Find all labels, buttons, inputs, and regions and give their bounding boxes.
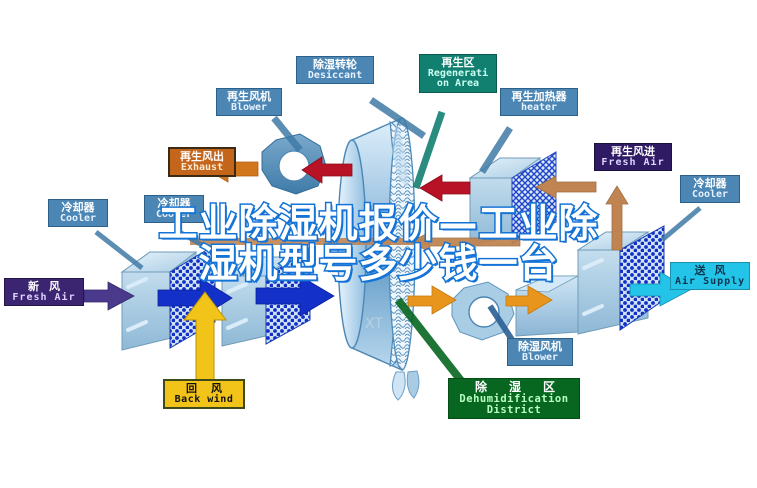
callout-regeneration-heater-en: heater <box>505 103 573 114</box>
callout-regeneration-fresh-air-cn: 再生风进 <box>599 146 667 158</box>
callout-regeneration-heater[interactable]: 再生加热器 heater <box>500 88 578 116</box>
callout-fresh-air-en: Fresh Air <box>9 293 79 304</box>
callout-regeneration-blower[interactable]: 再生风机 Blower <box>216 88 282 116</box>
callout-dehumidification-en2: District <box>453 405 575 416</box>
callout-dehumidification-cn: 除湿区 <box>453 381 575 394</box>
callout-desiccant-en: Desiccant <box>301 71 369 82</box>
callout-exhaust-cn: 再生风出 <box>174 151 230 163</box>
callout-cooler-right[interactable]: 冷却器 Cooler <box>680 175 740 203</box>
callout-process-blower-en: Blower <box>512 353 568 364</box>
callout-regeneration-heater-cn: 再生加热器 <box>505 91 573 103</box>
callout-back-wind-cn: 回风 <box>169 383 239 395</box>
callout-cooler-right-en: Cooler <box>685 190 735 201</box>
callout-cooler-right-cn: 冷却器 <box>685 178 735 190</box>
callout-regeneration-fresh-air-en: Fresh Air <box>599 158 667 169</box>
page-title-line-1: 工业除湿机报价—工业除 <box>0 205 757 245</box>
arrow-transfer-1 <box>408 286 456 314</box>
callout-desiccant-cn: 除湿转轮 <box>301 59 369 71</box>
callout-regeneration-area[interactable]: 再生区 Regenerati on Area <box>419 54 497 93</box>
page-title-line-2: 湿机型号多少钱一台 <box>0 245 757 285</box>
watermark-text: XT <box>365 316 383 332</box>
page-title: 工业除湿机报价—工业除 湿机型号多少钱一台 <box>0 205 757 285</box>
callout-regeneration-area-cn: 再生区 <box>424 57 492 69</box>
diagram-canvas: XT <box>0 0 757 488</box>
arrow-regen-red-right <box>420 175 470 201</box>
callout-regeneration-fresh-air[interactable]: 再生风进 Fresh Air <box>594 143 672 171</box>
callout-exhaust-en: Exhaust <box>174 163 230 174</box>
callout-regeneration-blower-en: Blower <box>221 103 277 114</box>
callout-dehumidification-district[interactable]: 除湿区 Dehumidification District <box>448 378 580 419</box>
callout-back-wind-en: Back wind <box>169 395 239 406</box>
callout-exhaust[interactable]: 再生风出 Exhaust <box>168 147 236 177</box>
callout-desiccant[interactable]: 除湿转轮 Desiccant <box>296 56 374 84</box>
callout-dehumidification-en1: Dehumidification <box>453 394 575 405</box>
callout-regeneration-blower-cn: 再生风机 <box>221 91 277 103</box>
callout-process-blower[interactable]: 除湿风机 Blower <box>507 338 573 366</box>
callout-process-blower-cn: 除湿风机 <box>512 341 568 353</box>
callout-back-wind[interactable]: 回风 Back wind <box>163 379 245 409</box>
callout-regeneration-area-en2: on Area <box>424 79 492 90</box>
